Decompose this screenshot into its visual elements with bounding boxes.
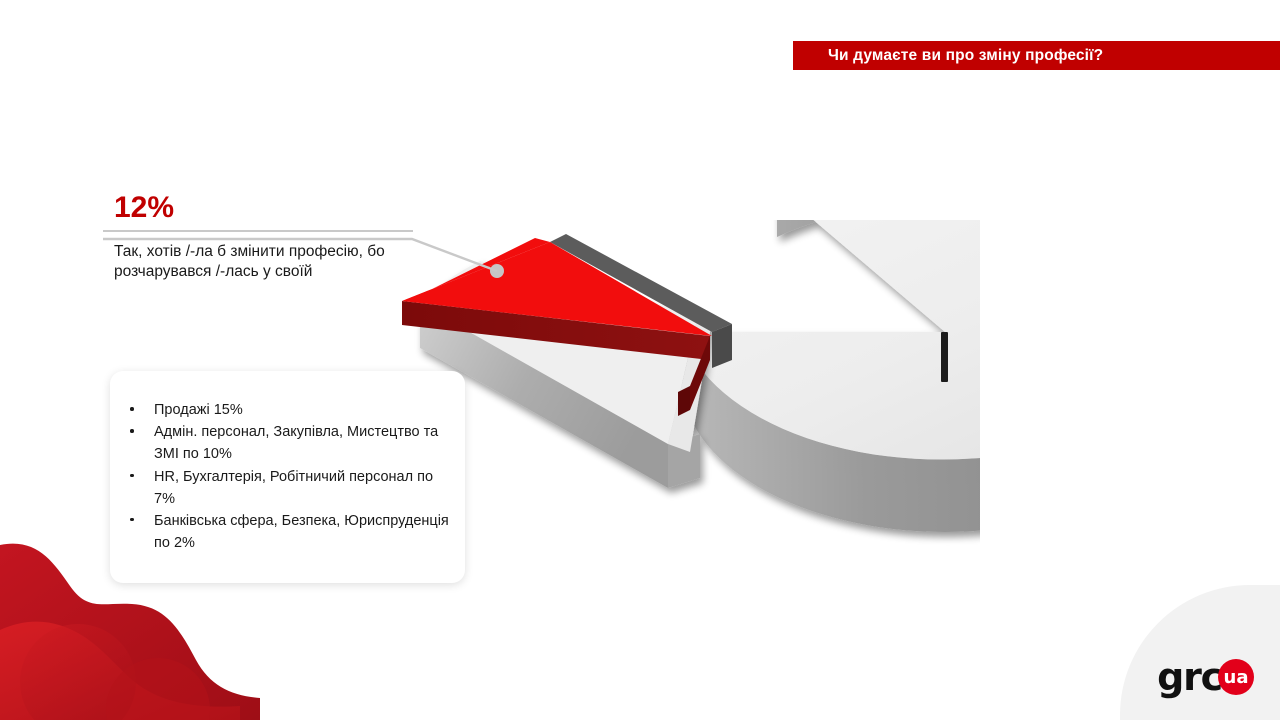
list-item: Адмін. персонал, Закупівла, Мистецтво та… [120,421,451,465]
list-item-label: Банківська сфера, Безпека, Юриспруденція… [154,513,449,551]
header-banner: Чи думаєте ви про зміну професії? [793,41,1280,70]
bullet-dot-icon [130,518,134,522]
brand-logo: grc ua [1157,658,1254,696]
list-item: Продажі 15% [120,399,451,421]
bullet-dot-icon [130,474,134,478]
pie-slice-other [682,220,980,532]
bullet-list: Продажі 15% Адмін. персонал, Закупівла, … [120,399,451,554]
list-item: HR, Бухгалтерія, Робітничий персонал по … [120,466,451,510]
list-item-label: Адмін. персонал, Закупівла, Мистецтво та… [154,424,438,462]
callout-rule [103,230,413,232]
bullet-dot-icon [130,429,134,433]
callout-label: 12% Так, хотів /-ла б змінити професію, … [103,192,423,283]
list-item-label: HR, Бухгалтерія, Робітничий персонал по … [154,469,433,507]
list-item: Банківська сфера, Безпека, Юриспруденція… [120,510,451,554]
callout-percent: 12% [114,192,423,224]
bullet-card: Продажі 15% Адмін. персонал, Закупівла, … [110,371,465,583]
logo-badge: ua [1218,659,1254,695]
logo-wordmark: grc [1157,658,1222,696]
logo-corner-background [1120,585,1280,720]
callout-description: Так, хотів /-ла б змінити професію, бо р… [114,242,414,283]
bullet-dot-icon [130,407,134,411]
callout-anchor-dot [490,264,504,278]
page-title: Чи думаєте ви про зміну професії? [828,47,1103,65]
list-item-label: Продажі 15% [154,402,243,418]
